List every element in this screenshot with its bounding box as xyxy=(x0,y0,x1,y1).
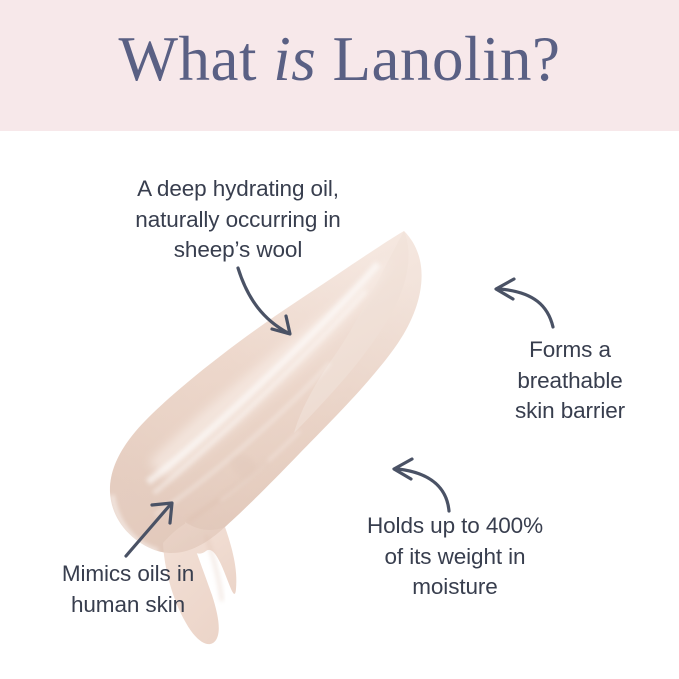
page-title-suffix: Lanolin? xyxy=(316,24,560,94)
page-title-emphasis: is xyxy=(273,24,316,94)
callout-holds-weight-in-moisture: Holds up to 400% of its weight in moistu… xyxy=(330,511,580,603)
infographic-page: What is Lanolin? xyxy=(0,0,679,679)
page-title: What is Lanolin? xyxy=(0,23,679,95)
callout-deep-hydrating-oil: A deep hydrating oil, naturally occurrin… xyxy=(88,174,388,266)
page-title-prefix: What xyxy=(119,24,274,94)
callout-breathable-skin-barrier: Forms a breathable skin barrier xyxy=(470,335,670,427)
callout-mimics-oils-human-skin: Mimics oils in human skin xyxy=(28,559,228,620)
